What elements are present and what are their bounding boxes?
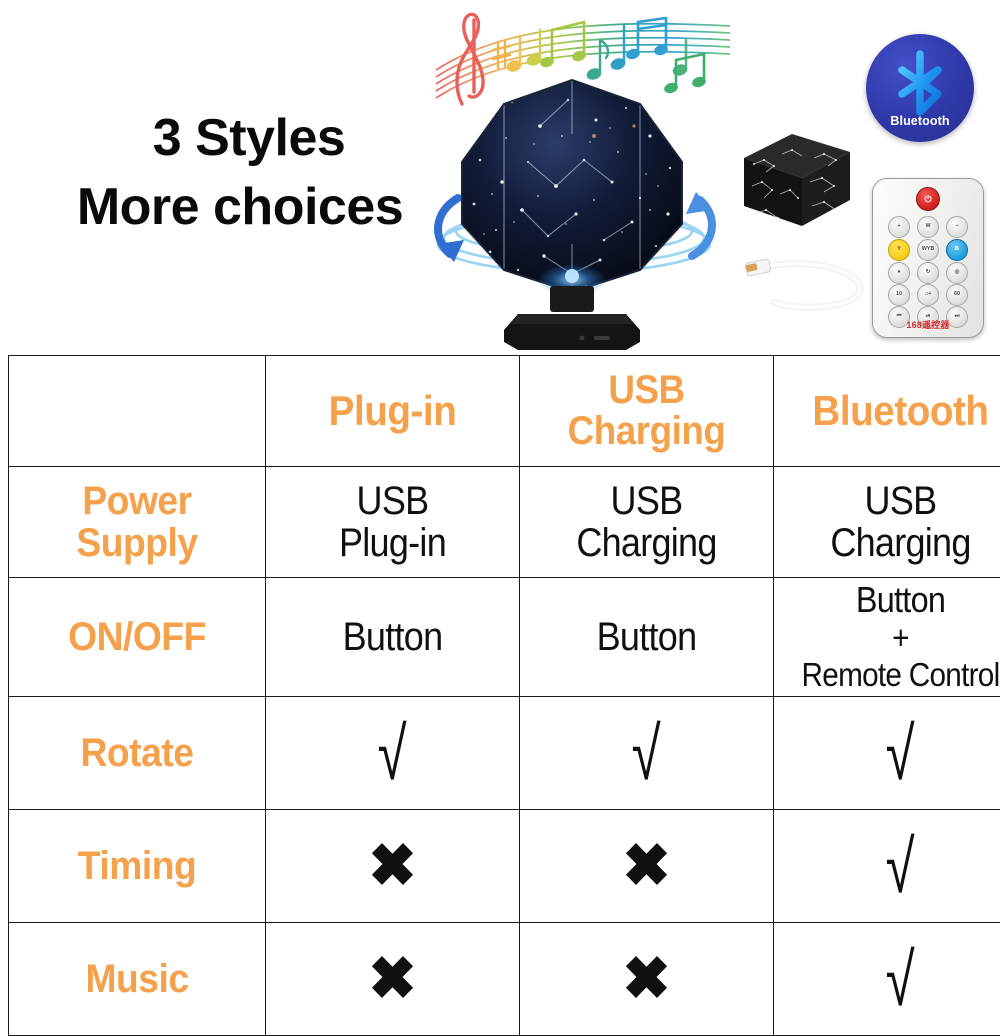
header-plugin-label: Plug-in: [280, 390, 505, 432]
cell-onoff-usb: Button: [520, 578, 774, 697]
remote-button-minus[interactable]: −: [946, 216, 968, 238]
remote-button-mode-b[interactable]: ◎: [946, 262, 968, 284]
cell-onoff-bluetooth: Button + Remote Control: [774, 578, 1000, 697]
headline-line-1: 3 Styles: [40, 104, 440, 173]
rotate-bt-mark: √: [886, 716, 915, 790]
remote-power-button[interactable]: ⏻: [916, 187, 940, 211]
cell-power-plugin-l2: Plug-in: [282, 522, 503, 564]
constellation-gift-box: [736, 128, 856, 232]
cell-onoff-usb-l1: Button: [536, 616, 757, 658]
header-cell-plugin: Plug-in: [266, 356, 520, 467]
cell-timing-usb: ✖: [520, 810, 774, 923]
timing-plugin-mark: ✖: [368, 837, 417, 896]
remote-button-wyb[interactable]: WYB: [917, 239, 939, 261]
cell-onoff-bt-l3: Remote Control: [790, 657, 1000, 694]
headline-line-2: More choices: [40, 173, 440, 242]
power-supply-line2: Supply: [22, 522, 253, 564]
bluetooth-badge-label: Bluetooth: [866, 114, 974, 128]
cell-music-bluetooth: √: [774, 923, 1000, 1036]
rotate-label: Rotate: [22, 732, 253, 774]
remote-button-w[interactable]: W: [917, 216, 939, 238]
remote-button-plus[interactable]: +: [888, 216, 910, 238]
onoff-label: ON/OFF: [22, 616, 253, 658]
remote-button-rotate[interactable]: ↻: [917, 262, 939, 284]
cell-onoff-plugin-l1: Button: [282, 616, 503, 658]
rotate-usb-mark: √: [632, 716, 661, 790]
row-label-music: Music: [9, 923, 266, 1036]
cell-timing-plugin: ✖: [266, 810, 520, 923]
remote-model-label: 168遥控器: [872, 318, 984, 331]
cell-power-plugin: USB Plug-in: [266, 467, 520, 578]
header-usb-line1: USB: [534, 370, 759, 411]
cell-music-plugin: ✖: [266, 923, 520, 1036]
power-supply-line1: Power: [22, 480, 253, 522]
rotate-plugin-mark: √: [378, 716, 407, 790]
timing-bt-mark: √: [886, 829, 915, 903]
remote-button-timer-60[interactable]: 60: [946, 284, 968, 306]
cell-power-usb-l2: Charging: [536, 522, 757, 564]
cell-power-usb: USB Charging: [520, 467, 774, 578]
table-header-row: Plug-in USB Charging Bluetooth: [9, 356, 1000, 467]
remote-button-b[interactable]: B: [946, 239, 968, 261]
header-usb-line2: Charging: [534, 411, 759, 452]
row-label-power-supply: Power Supply: [9, 467, 266, 578]
comparison-table: Plug-in USB Charging Bluetooth Power Sup…: [8, 355, 1000, 1036]
table-row-power-supply: Power Supply USB Plug-in USB Charging US…: [9, 467, 1000, 578]
table-row-timing: Timing ✖ ✖ √: [9, 810, 1000, 923]
remote-button-y[interactable]: Y: [888, 239, 910, 261]
cell-power-usb-l1: USB: [536, 480, 757, 522]
header-bluetooth-label: Bluetooth: [788, 390, 1000, 432]
cell-onoff-plugin: Button: [266, 578, 520, 697]
timing-label: Timing: [22, 845, 253, 887]
header-cell-empty: [9, 356, 266, 467]
usb-charging-cable: [744, 248, 872, 314]
cell-power-plugin-l1: USB: [282, 480, 503, 522]
cell-rotate-plugin: √: [266, 697, 520, 810]
cell-power-bt-l1: USB: [790, 480, 1000, 522]
header-cell-bluetooth: Bluetooth: [774, 356, 1000, 467]
cell-onoff-bt-l1: Button: [790, 580, 1000, 620]
music-label: Music: [22, 958, 253, 1000]
star-projector-lamp: [444, 74, 700, 352]
cell-music-usb: ✖: [520, 923, 774, 1036]
cell-rotate-bluetooth: √: [774, 697, 1000, 810]
cell-onoff-bt-l2: +: [790, 620, 1000, 657]
row-label-rotate: Rotate: [9, 697, 266, 810]
hero-banner: 3 Styles More choices: [0, 0, 1000, 352]
remote-control: ⏻ + W − Y WYB B ● ↻ ◎ 10 ♫+ 60 ⏮ ⏯ ⏭ 168…: [872, 178, 984, 338]
cell-power-bluetooth: USB Charging: [774, 467, 1000, 578]
table-row-onoff: ON/OFF Button Button Button + Remote Con…: [9, 578, 1000, 697]
table-row-rotate: Rotate √ √ √: [9, 697, 1000, 810]
page-headline: 3 Styles More choices: [40, 104, 440, 241]
timing-usb-mark: ✖: [622, 837, 671, 896]
remote-button-mode-a[interactable]: ●: [888, 262, 910, 284]
remote-button-timer-10[interactable]: 10: [888, 284, 910, 306]
cell-power-bt-l2: Charging: [790, 522, 1000, 564]
bluetooth-badge: Bluetooth: [866, 34, 974, 142]
row-label-onoff: ON/OFF: [9, 578, 266, 697]
table-row-music: Music ✖ ✖ √: [9, 923, 1000, 1036]
music-bt-mark: √: [886, 942, 915, 1016]
cell-timing-bluetooth: √: [774, 810, 1000, 923]
header-cell-usb-charging: USB Charging: [520, 356, 774, 467]
cell-rotate-usb: √: [520, 697, 774, 810]
remote-button-vol-up[interactable]: ♫+: [917, 284, 939, 306]
row-label-timing: Timing: [9, 810, 266, 923]
